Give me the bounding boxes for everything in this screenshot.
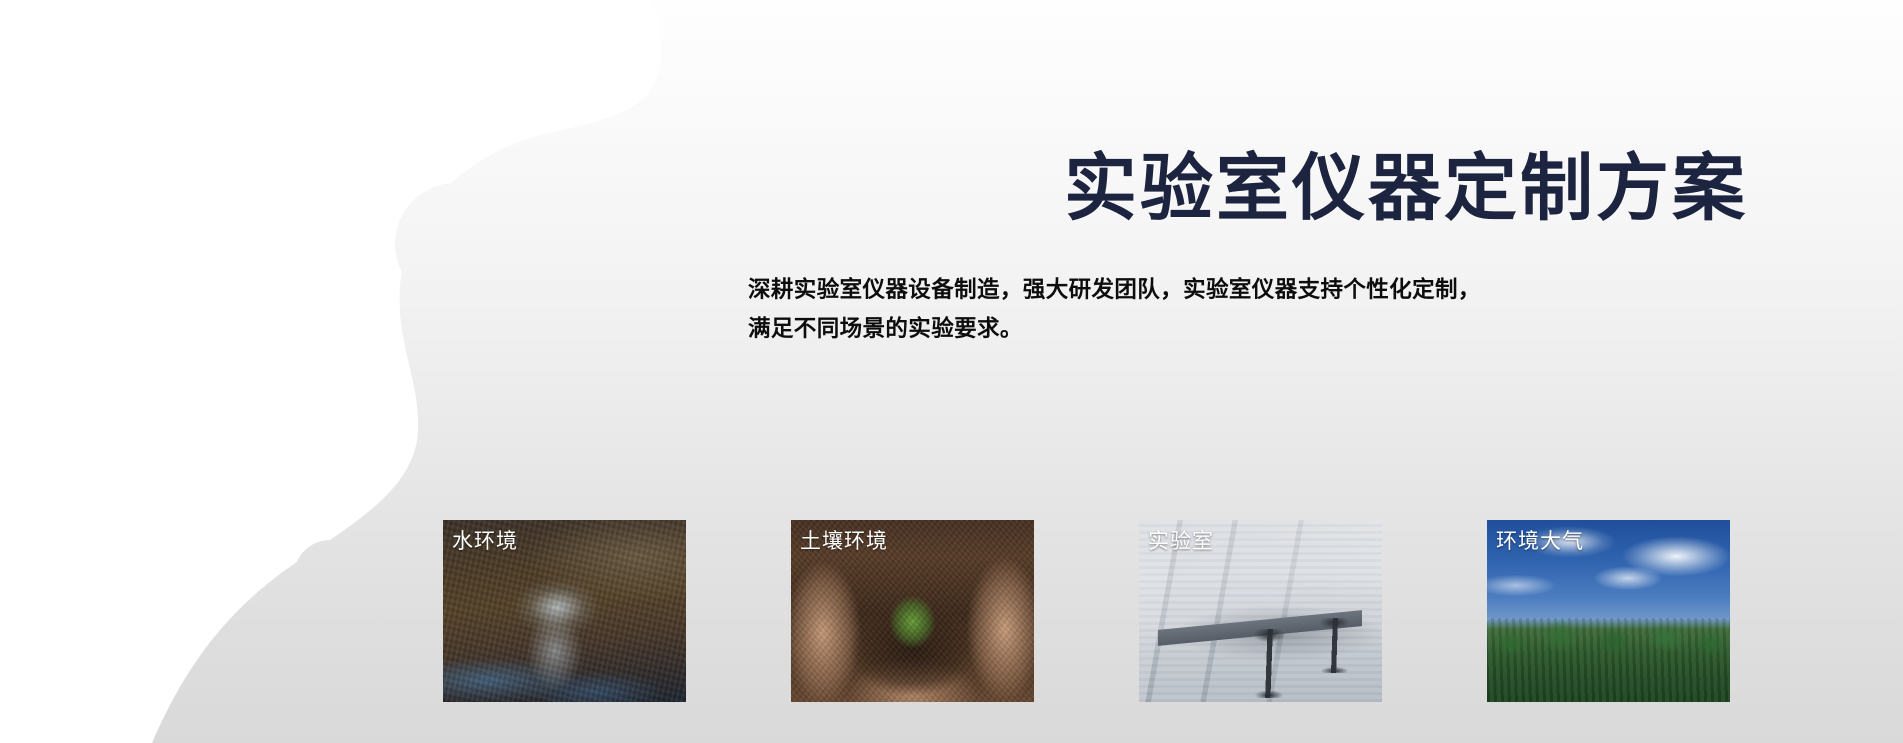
page-subtitle-line-1: 深耕实验室仪器设备制造，强大研发团队，实验室仪器支持个性化定制， (748, 271, 1723, 310)
headline-block: 实验室仪器定制方案 深耕实验室仪器设备制造，强大研发团队，实验室仪器支持个性化定… (748, 150, 1748, 348)
category-card-label: 水环境 (452, 529, 518, 555)
category-card-strip: 水环境 土壤环境 实验室 环境大气 (443, 520, 1723, 702)
category-card-label: 土壤环境 (800, 529, 888, 555)
page-subtitle-line-2: 满足不同场景的实验要求。 (748, 310, 1723, 349)
category-card-label: 实验室 (1148, 529, 1214, 555)
category-card-atmosphere[interactable]: 环境大气 (1487, 520, 1730, 702)
lab-stool-shape (1314, 618, 1355, 673)
category-card-soil[interactable]: 土壤环境 (791, 520, 1034, 702)
category-card-laboratory[interactable]: 实验室 (1139, 520, 1382, 702)
hero-banner: 实验室仪器定制方案 深耕实验室仪器设备制造，强大研发团队，实验室仪器支持个性化定… (0, 0, 1903, 743)
page-title: 实验室仪器定制方案 (748, 150, 1748, 229)
page-subtitle: 深耕实验室仪器设备制造，强大研发团队，实验室仪器支持个性化定制， 满足不同场景的… (748, 229, 1723, 348)
category-card-label: 环境大气 (1496, 529, 1584, 555)
category-card-water[interactable]: 水环境 (443, 520, 686, 702)
lab-stool-shape (1248, 629, 1289, 698)
